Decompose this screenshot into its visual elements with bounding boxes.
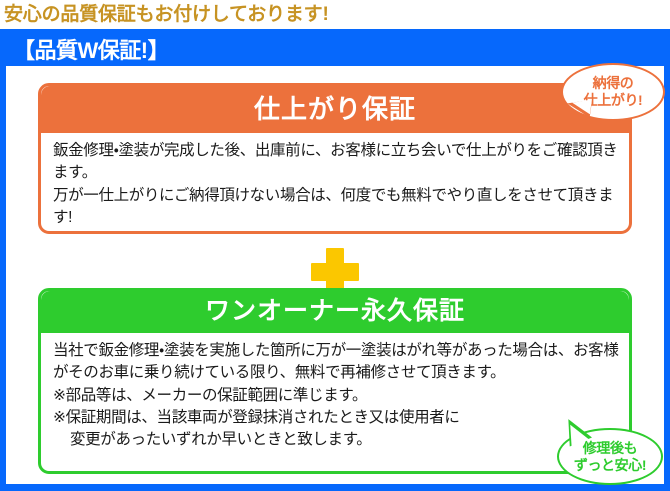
card-finish-guarantee-title: 仕上がり保証 xyxy=(41,86,629,133)
owner-note-2: ※保証期間は、当該車両が登録抹消されたとき又は使用者に xyxy=(53,407,619,429)
quality-banner: 【品質W保証!】 xyxy=(0,29,670,66)
frame-border-right xyxy=(664,66,670,491)
owner-bubble-line-1: 修理後も xyxy=(583,440,637,457)
finish-paragraph-1: 鈑金修理・塗装が完成した後、出庫前に、お客様に立ち会いで仕上がりをご確認頂きます… xyxy=(53,140,619,185)
card-one-owner-guarantee-body: 当社で鈑金修理・塗装を実施した箇所に万が一塗装はがれ等があった場合は、お客様がそ… xyxy=(41,333,629,456)
owner-bubble: 修理後も ずっと安心! xyxy=(557,428,663,485)
promo-page: 安心の品質保証もお付けしております! 【品質W保証!】 仕上がり保証 鈑金修理・… xyxy=(0,0,670,491)
finish-bubble-line-1: 納得の xyxy=(593,75,634,92)
card-finish-guarantee-body: 鈑金修理・塗装が完成した後、出庫前に、お客様に立ち会いで仕上がりをご確認頂きます… xyxy=(41,133,629,233)
quality-banner-label: 【品質W保証!】 xyxy=(13,33,169,65)
finish-bubble-line-2: 仕上がり! xyxy=(584,92,643,109)
card-one-owner-guarantee: ワンオーナー永久保証 当社で鈑金修理・塗装を実施した箇所に万が一塗装はがれ等があ… xyxy=(38,288,632,474)
frame-border-bottom xyxy=(0,484,670,491)
frame-border-left xyxy=(0,66,6,491)
owner-paragraph-1: 当社で鈑金修理・塗装を実施した箇所に万が一塗装はがれ等があった場合は、お客様がそ… xyxy=(53,340,619,385)
card-finish-guarantee: 仕上がり保証 鈑金修理・塗装が完成した後、出庫前に、お客様に立ち会いで仕上がりを… xyxy=(38,83,632,234)
owner-bubble-line-2: ずっと安心! xyxy=(574,457,646,474)
finish-paragraph-2: 万が一仕上がりにご納得頂けない場合は、何度でも無料でやり直しをさせて頂きます! xyxy=(53,185,619,230)
owner-note-1: ※部品等は、メーカーの保証範囲に準じます。 xyxy=(53,385,619,407)
finish-bubble: 納得の 仕上がり! xyxy=(561,63,665,121)
card-one-owner-guarantee-title: ワンオーナー永久保証 xyxy=(41,291,629,333)
owner-note-2-continued: 変更があったいずれか早いときと致します。 xyxy=(53,429,619,451)
page-headline: 安心の品質保証もお付けしております! xyxy=(4,1,664,29)
finish-bubble-tail-inner xyxy=(571,97,592,114)
